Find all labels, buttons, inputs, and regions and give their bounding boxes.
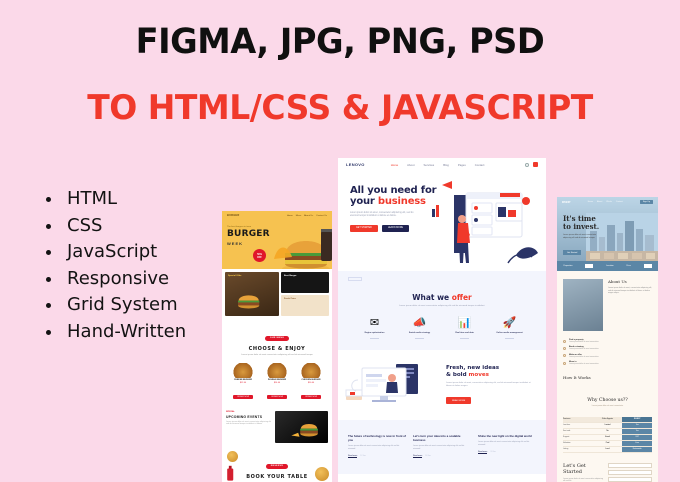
order-button[interactable]: ORDER NOW [233,395,253,399]
list-item: Responsive [42,266,186,293]
post-date: 18 Jan [425,455,430,457]
business-nav-actions [525,162,538,167]
burger-feature-cards: Special Offer Best Burger Fresh Fries [222,269,332,319]
burger-nav-item: About Us [304,215,313,217]
fresh-read-more-button[interactable]: READ MORE [446,397,471,404]
invest-nav-item[interactable]: Home [588,201,593,203]
step-bullet-icon [563,347,566,350]
badge-line-2: OFF [257,256,262,259]
events-text: Lorem ipsum dolor sit amet consectetur a… [226,421,272,427]
search-icon[interactable] [525,163,529,167]
step-bullet-icon [563,340,566,343]
burger-discount-badge: 50% OFF [253,249,266,262]
step-item: Move inLorem ipsum dolor sit amet consec… [563,361,652,365]
offer-item[interactable]: 📊 Real time and data [448,317,482,338]
contact-title-line2: Started [563,469,603,475]
business-nav-item-contact[interactable]: Contact [475,163,485,167]
burger-navbar: BURGER Home Menu About Us Contact Us [222,211,332,220]
post-title: The future of technology is now in front… [348,434,406,442]
offer-item-label: Social media strategy [403,332,437,335]
fresh-title-highlight: moves [469,372,489,378]
item-name: CHEESE BURGER [228,379,258,381]
business-divider-band [338,271,546,287]
offer-title-highlight: offer [452,293,472,302]
headline-primary: FIGMA, JPG, PNG, PSD [14,22,667,62]
step-bullet-icon [563,354,566,357]
invest-hero-text: It's time to invest. Lorem ipsum dolor s… [557,207,658,258]
contact-field-name[interactable] [608,463,652,468]
burger-card-small: Fresh Fries [281,295,329,316]
burger-events-text: SPECIAL UPCOMING EVENTS Lorem ipsum dolo… [226,411,272,443]
fresh-title-line1: Fresh, new ideas [446,365,536,372]
about-text: Lorem ipsum dolor sit amet, consectetur … [608,287,652,295]
ketchup-bottle-icon [225,465,236,482]
business-navbar: LENOVO Home About Services Blog Pages Co… [338,158,546,171]
business-nav-item-home[interactable]: Home [391,163,398,167]
divider [460,338,469,339]
invest-nav-item[interactable]: About [597,201,602,203]
business-hero-illustration [430,179,542,271]
invest-navbar: INVEST Home About Works Contact Sign Up [557,197,658,207]
burger-card-small: Best Burger [281,272,329,293]
step-text: Lorem ipsum dolor sit amet consectetur. [569,348,599,350]
divider [370,338,379,339]
invest-contact-section: Let's Get Started Lorem ipsum dolor sit … [557,453,658,482]
burger-nav-item: Menu [296,215,301,217]
card-tag: Special Offer [228,275,242,277]
order-button[interactable]: ORDER NOW [301,395,321,399]
search-submit-button[interactable] [644,264,652,268]
burger-card-column: Best Burger Fresh Fries [281,272,329,316]
business-hero: All you need for your business Lorem ips… [338,171,546,271]
post-card[interactable]: Shine the new light on the digital world… [478,434,536,458]
business-fresh-section: Fresh, new ideas & bold moves Lorem ipsu… [338,350,546,420]
post-meta: Read more 12 Jan [348,455,406,458]
item-price: $14.00 [262,382,292,384]
burger-hero-text: The best burgers in town BURGER WEEK [222,220,332,246]
breadcrumb [348,277,362,281]
booking-title: BOOK YOUR TABLE [226,474,328,480]
why-choose-subtitle: Lorem ipsum dolor sit amet consectetur [557,405,658,407]
poster-canvas: FIGMA, JPG, PNG, PSD TO HTML/CSS & JAVAS… [0,0,680,482]
booking-tag: RESERVE [266,464,289,469]
offer-item-label: Engine optimization [358,332,392,335]
contact-text: Lorem ipsum dolor sit amet consectetur a… [563,478,603,482]
table-column-ours: INVEST Yes Yes 24/7 Free Nationwide [622,417,652,453]
search-chip[interactable] [585,264,593,268]
hero-line-2-highlight: business [378,196,426,207]
comparison-table: Features Low fees Fast sale Support Valu… [563,417,652,453]
invest-hero-line2: to invest. [563,223,658,231]
table-cell: Listing [563,447,593,453]
fresh-illustration [344,360,440,410]
post-link[interactable]: Read more [348,455,357,458]
burger-card-art [231,290,271,316]
business-nav-item-pages[interactable]: Pages [458,163,466,167]
learn-more-button[interactable]: LEARN MORE [382,225,409,232]
list-item: JavaScript [42,239,186,266]
why-choose-title: Why Choose us?? [557,398,658,403]
burger-section-title: CHOOSE & ENJOY [226,346,328,352]
business-logo: LENOVO [346,162,365,167]
events-tag: SPECIAL [226,411,272,413]
invest-nav-links: Home About Works Contact [588,201,623,203]
mockup-burger-website: BURGER Home Menu About Us Contact Us The… [222,211,332,482]
invest-how-section: How It Works [557,369,658,388]
fresh-title: Fresh, new ideas & bold moves [446,365,536,379]
bun-decoration [315,467,329,481]
table-cell: Nationwide [622,447,652,453]
burger-events-image [275,411,328,443]
offer-item[interactable]: ✉ Engine optimization [358,317,392,338]
contact-title: Let's Get Started [563,463,603,475]
item-name: CHICKEN BURGER [296,379,326,381]
table-column-features: Features Low fees Fast sale Support Valu… [563,417,593,453]
item-price: $12.00 [228,382,258,384]
post-link[interactable]: Read more [413,455,422,458]
headline-secondary: TO HTML/CSS & JAVASCRIPT [10,88,670,128]
order-button[interactable]: ORDER NOW [267,395,287,399]
cart-icon[interactable] [533,162,538,167]
burger-card-large: Special Offer [225,272,279,316]
events-title: UPCOMING EVENTS [226,415,272,419]
invest-logo: INVEST [562,201,571,204]
invest-search-bar: Properties Location Price [557,261,658,271]
step-bullet-icon [563,362,566,365]
contact-text-block: Let's Get Started Lorem ipsum dolor sit … [563,463,603,482]
burger-menu-item[interactable]: DOUBLE BURGER $14.00 ORDER NOW [262,363,292,403]
offer-items: ✉ Engine optimization 📣 Social media str… [338,317,546,338]
offer-title: What we offer [338,293,546,302]
offer-subtitle: Lorem ipsum dolor sit amet consectetur a… [338,305,546,308]
card-tag: Best Burger [284,275,297,277]
step-text: Lorem ipsum dolor sit amet consectetur. [569,363,599,365]
fresh-title-line2: & bold moves [446,372,536,379]
list-item: CSS [42,213,186,240]
rocket-icon: 🚀 [493,317,527,329]
search-field-price[interactable]: Price [626,265,631,267]
burger-hero-eyebrow: The best burgers in town [227,226,327,228]
business-offer-section: What we offer Lorem ipsum dolor sit amet… [338,287,546,350]
fresh-title-plain: & bold [446,372,469,378]
burger-thumb [230,363,256,378]
envelope-icon: ✉ [358,317,392,329]
about-title: About Us [608,279,652,284]
contact-field-phone[interactable] [608,477,652,482]
invest-about-image [563,279,603,331]
burger-nav-links: Home Menu About Us Contact Us [287,215,327,217]
invest-nav-item[interactable]: Contact [616,201,623,203]
post-title: Let's turn your idea into a scalable bus… [413,434,471,442]
fresh-text-block: Fresh, new ideas & bold moves Lorem ipsu… [446,365,536,406]
burger-menu-heading: OUR MENU CHOOSE & ENJOY Lorem ipsum dolo… [222,319,332,359]
burger-menu-item[interactable]: CHEESE BURGER $12.00 ORDER NOW [228,363,258,403]
item-price: $10.00 [296,382,326,384]
post-text: Lorem ipsum dolor sit amet consectetur a… [413,445,471,451]
invest-about-section: About Us Lorem ipsum dolor sit amet, con… [557,271,658,339]
step-item: Find a propertyLorem ipsum dolor sit ame… [563,339,652,343]
burger-hero-title: BURGER [227,230,327,239]
burger-section-sub: Lorem ipsum dolor sit amet consectetur a… [226,354,328,357]
step-text: Lorem ipsum dolor sit amet consectetur. [569,341,599,343]
business-posts-section: The future of technology is now in front… [338,420,546,474]
step-item: Book a viewingLorem ipsum dolor sit amet… [563,346,652,350]
search-field-location[interactable]: Location [606,265,614,267]
post-meta: Read more 24 Jan [478,451,536,454]
offer-item-label: Online media management [493,332,527,335]
get-started-button[interactable]: GET STARTED [350,225,378,232]
post-title: Shine the new light on the digital world [478,434,536,438]
contact-form [608,463,652,482]
invest-get-started-button[interactable]: Get Started [563,250,581,255]
post-date: 12 Jan [360,455,365,457]
burger-nav-item: Home [287,215,293,217]
how-it-works-title: How It Works [563,375,652,380]
chart-icon: 📊 [448,317,482,329]
divider [505,338,514,339]
burger-thumb [298,363,324,378]
invest-hero-title: It's time to invest. [563,215,658,231]
burger-booking-section: RESERVE BOOK YOUR TABLE [222,447,332,482]
step-item: Make an offerLorem ipsum dolor sit amet … [563,354,652,358]
bun-decoration [227,451,238,462]
invest-steps-list: Find a propertyLorem ipsum dolor sit ame… [557,339,658,366]
table-column-other: Other Agents Limited No Email Paid Local [593,417,623,453]
burger-logo: BURGER [227,214,239,217]
divider [415,338,424,339]
offer-title-plain: What we [412,293,452,302]
post-date: 24 Jan [490,451,495,453]
business-hero-text: Lorem ipsum dolor sit amet, consectetur … [350,212,422,219]
business-nav-item-services[interactable]: Services [423,163,434,167]
post-link[interactable]: Read more [478,451,487,454]
invest-hero: INVEST Home About Works Contact Sign Up … [557,197,658,261]
business-nav-item-about[interactable]: About [407,163,414,167]
invest-hero-paragraph: Lorem ipsum dolor sit amet consectetur a… [563,234,603,240]
list-item: HTML [42,186,186,213]
invest-nav-item[interactable]: Works [606,201,612,203]
burger-menu-items: CHEESE BURGER $12.00 ORDER NOW DOUBLE BU… [222,359,332,408]
burger-photo-art [290,419,324,441]
mockup-business-website: LENOVO Home About Services Blog Pages Co… [338,158,546,482]
post-meta: Read more 18 Jan [413,455,471,458]
burger-menu-item[interactable]: CHICKEN BURGER $10.00 ORDER NOW [296,363,326,403]
burger-events-section: SPECIAL UPCOMING EVENTS Lorem ipsum dolo… [222,407,332,447]
burger-nav-item: Contact Us [316,215,327,217]
step-text: Lorem ipsum dolor sit amet consectetur. [569,356,599,358]
item-name: DOUBLE BURGER [262,379,292,381]
search-field-properties[interactable]: Properties [563,265,572,267]
table-cell: Local [593,447,623,453]
business-nav-item-blog[interactable]: Blog [443,163,449,167]
burger-thumb [264,363,290,378]
mockup-invest-website: INVEST Home About Works Contact Sign Up … [557,197,658,482]
post-text: Lorem ipsum dolor sit amet consectetur a… [348,445,406,451]
burger-section-tag: OUR MENU [265,336,289,341]
offer-item[interactable]: 📣 Social media strategy [403,317,437,338]
contact-field-email[interactable] [608,470,652,475]
offer-item[interactable]: 🚀 Online media management [493,317,527,338]
post-text: Lorem ipsum dolor sit amet consectetur a… [478,441,536,447]
feature-list: HTML CSS JavaScript Responsive Grid Syst… [42,186,186,345]
burger-hero-subtitle: WEEK [227,241,327,246]
list-item: Grid System [42,292,186,319]
post-card[interactable]: Let's turn your idea into a scalable bus… [413,434,471,458]
invest-why-section: Why Choose us?? Lorem ipsum dolor sit am… [557,388,658,413]
business-nav-links: Home About Services Blog Pages Contact [391,163,485,167]
burger-hero: BURGER Home Menu About Us Contact Us The… [222,211,332,269]
megaphone-icon: 📣 [403,317,437,329]
fresh-text: Lorem ipsum dolor sit amet, consectetur … [446,382,536,388]
hero-line-2-plain: your [350,196,378,207]
offer-item-label: Real time and data [448,332,482,335]
invest-about-text-block: About Us Lorem ipsum dolor sit amet, con… [608,279,652,331]
list-item: Hand-Written [42,319,186,346]
invest-signup-button[interactable]: Sign Up [640,200,653,204]
card-tag: Fresh Fries [284,298,296,300]
post-card[interactable]: The future of technology is now in front… [348,434,406,458]
